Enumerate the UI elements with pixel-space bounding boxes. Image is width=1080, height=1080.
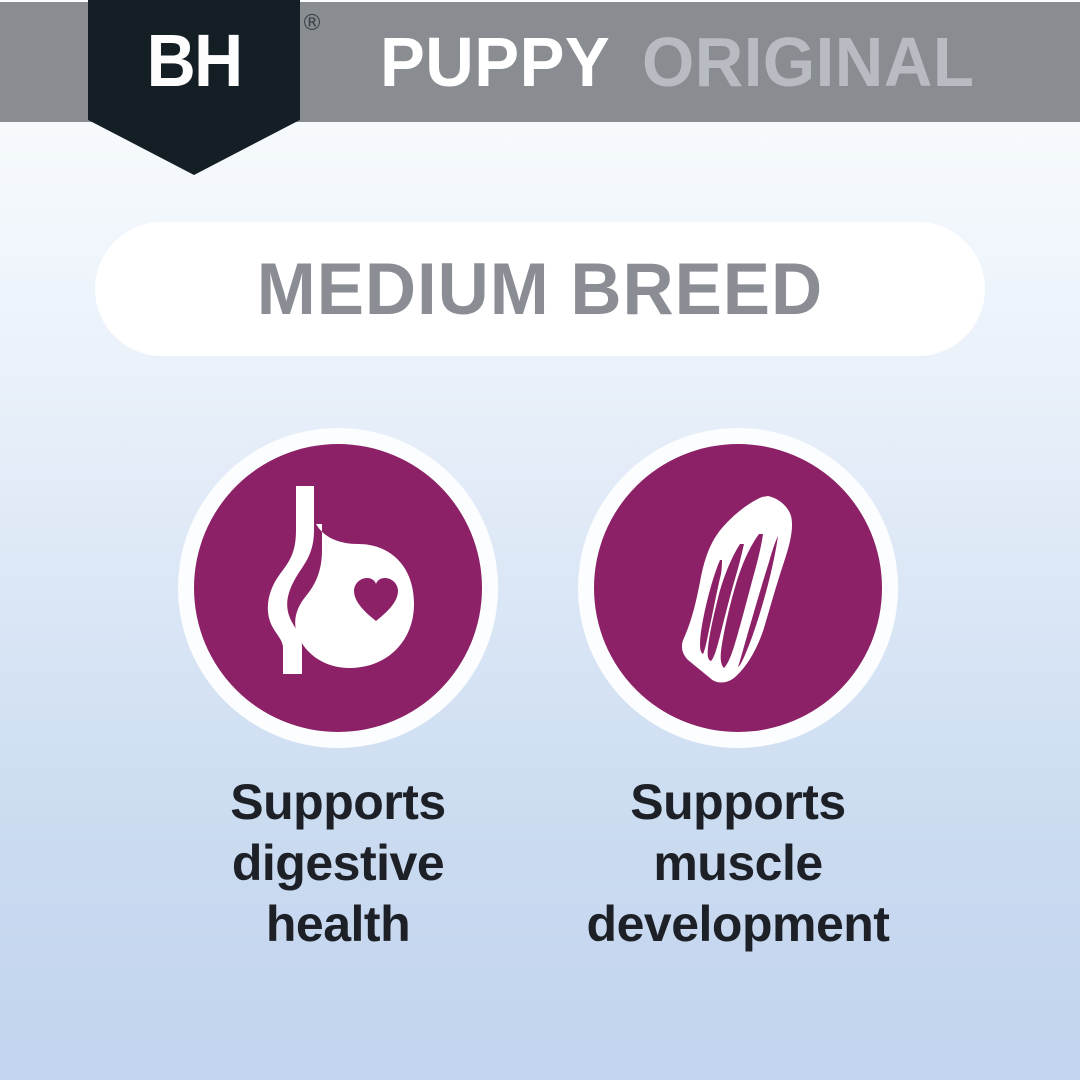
caption-line: Supports — [558, 772, 918, 833]
stomach-heart-icon — [228, 478, 448, 698]
feature-item-digestive: Supports digestive health — [158, 428, 518, 955]
feature-icon-ring — [578, 428, 898, 748]
muscle-fiber-icon — [628, 478, 848, 698]
registered-trademark-icon: ® — [301, 12, 325, 36]
breed-size-badge: MEDIUM BREED — [95, 222, 985, 356]
caption-line: digestive — [158, 833, 518, 894]
feature-icon-ring — [178, 428, 498, 748]
feature-item-muscle: Supports muscle development — [558, 428, 918, 955]
brand-shield-initials: BH — [96, 22, 291, 100]
breed-size-label: MEDIUM BREED — [257, 253, 823, 326]
feature-icon-disc — [594, 444, 882, 732]
header-title-primary: PUPPY — [380, 27, 610, 97]
brand-shield-logo: BH — [88, 0, 300, 175]
header-title: PUPPY ORIGINAL — [380, 14, 988, 110]
feature-caption-muscle: Supports muscle development — [558, 772, 918, 955]
caption-line: development — [558, 894, 918, 955]
caption-line: health — [158, 894, 518, 955]
product-feature-card: PUPPY ORIGINAL BH ® MEDIUM BREED Support… — [0, 0, 1080, 1080]
header-title-secondary: ORIGINAL — [642, 27, 974, 97]
caption-line: muscle — [558, 833, 918, 894]
caption-line: Supports — [158, 772, 518, 833]
feature-caption-digestive: Supports digestive health — [158, 772, 518, 955]
feature-icon-disc — [194, 444, 482, 732]
